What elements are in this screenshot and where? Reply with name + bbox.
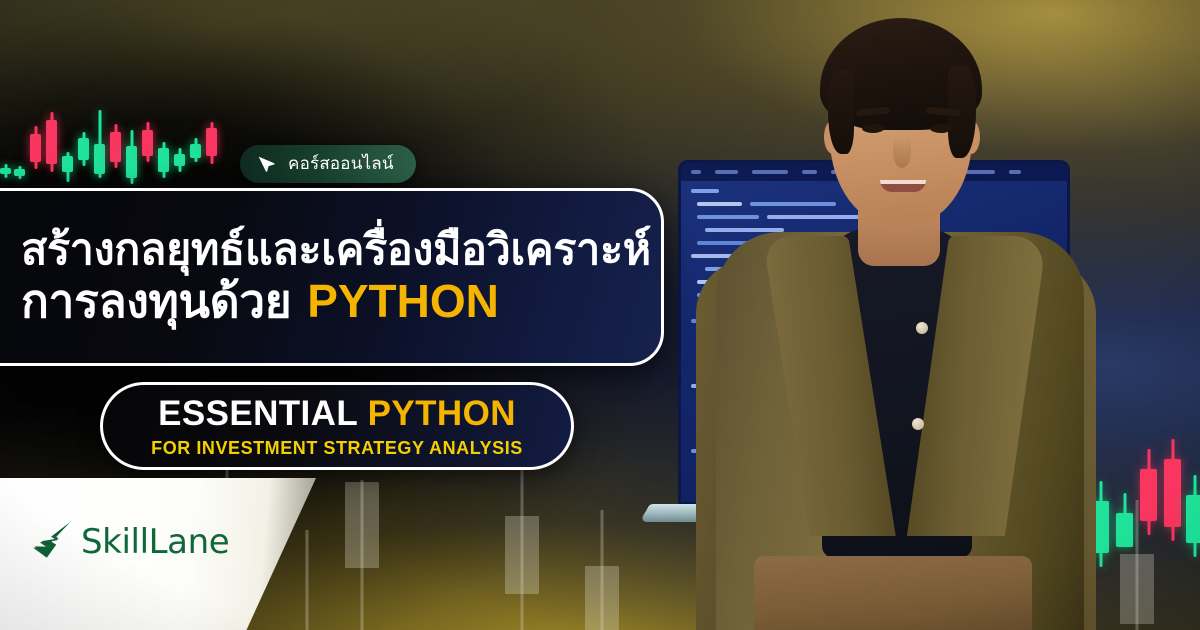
- course-subtitle-box: ESSENTIAL PYTHON FOR INVESTMENT STRATEGY…: [100, 382, 574, 470]
- candlestick: [78, 52, 89, 202]
- candlestick: [142, 52, 153, 202]
- candle-body: [126, 146, 137, 178]
- candlestick: [1164, 372, 1181, 557]
- candle-body: [585, 566, 619, 630]
- subtitle-python: PYTHON: [368, 394, 516, 433]
- candle-body: [1120, 554, 1154, 624]
- candlestick: [1116, 372, 1133, 557]
- title-line-1: สร้างกลยุทธ์และเครื่องมือวิเคราะห์: [21, 228, 661, 273]
- title-line-2: การลงทุนด้วย PYTHON: [21, 277, 661, 327]
- nose: [893, 136, 911, 168]
- candle-body: [1140, 469, 1157, 521]
- candle-body: [94, 144, 105, 174]
- candlestick: [174, 52, 185, 202]
- candlestick: [110, 52, 121, 202]
- blazer-button-top: [916, 322, 928, 334]
- candle-body: [158, 148, 169, 172]
- candle-body: [142, 130, 153, 156]
- instructor-photo: [690, 0, 1110, 630]
- candlestick: [94, 52, 105, 202]
- candle-body: [46, 120, 57, 164]
- skilllane-arrow-logo-icon: [30, 522, 72, 562]
- course-title-box: สร้างกลยุทธ์และเครื่องมือวิเคราะห์ การลง…: [0, 188, 664, 366]
- title-line-2-thai: การลงทุนด้วย: [21, 274, 307, 328]
- foreground-candlestick-chart-left: [0, 52, 270, 202]
- badge-label: คอร์สออนไลน์: [288, 156, 394, 173]
- candle-body: [206, 128, 217, 156]
- candle-body: [505, 516, 539, 594]
- candlestick: [126, 52, 137, 202]
- candlestick: [1140, 372, 1157, 557]
- subtitle-essential: ESSENTIAL: [158, 394, 368, 433]
- title-line-2-highlight: PYTHON: [307, 275, 499, 327]
- eye-right: [930, 124, 952, 133]
- candle-body: [0, 168, 11, 174]
- candle-body: [1164, 459, 1181, 527]
- candle-body: [14, 169, 25, 176]
- candle-body: [190, 144, 201, 158]
- candle-wick: [306, 530, 309, 630]
- subtitle-line-1: ESSENTIAL PYTHON: [158, 396, 516, 431]
- candlestick: [30, 52, 41, 202]
- candlestick: [62, 52, 73, 202]
- skilllane-wordmark: SkillLane: [81, 525, 229, 559]
- course-banner: คอร์สออนไลน์ สร้างกลยุทธ์และเครื่องมือวิ…: [0, 0, 1200, 630]
- blazer-button-bottom: [912, 418, 924, 430]
- eye-left: [862, 124, 884, 133]
- candle-body: [1116, 513, 1133, 547]
- candlestick: [206, 52, 217, 202]
- candlestick: [158, 52, 169, 202]
- trousers: [754, 556, 1032, 630]
- candle-body: [62, 156, 73, 172]
- background-candlestick: [585, 400, 619, 630]
- candlestick: [190, 52, 201, 202]
- subtitle-line-2: FOR INVESTMENT STRATEGY ANALYSIS: [151, 439, 523, 457]
- candlestick: [0, 52, 11, 202]
- candlestick: [46, 52, 57, 202]
- mouth: [880, 180, 926, 192]
- candle-body: [345, 482, 379, 568]
- candle-body: [30, 134, 41, 162]
- candle-body: [174, 154, 185, 166]
- online-course-badge[interactable]: คอร์สออนไลน์: [240, 145, 416, 183]
- candlestick: [1186, 372, 1200, 557]
- candle-body: [78, 138, 89, 160]
- paper-plane-icon: [256, 154, 278, 174]
- candle-body: [110, 132, 121, 162]
- skilllane-logo[interactable]: SkillLane: [30, 522, 229, 562]
- candlestick: [14, 52, 25, 202]
- candle-body: [1186, 495, 1200, 543]
